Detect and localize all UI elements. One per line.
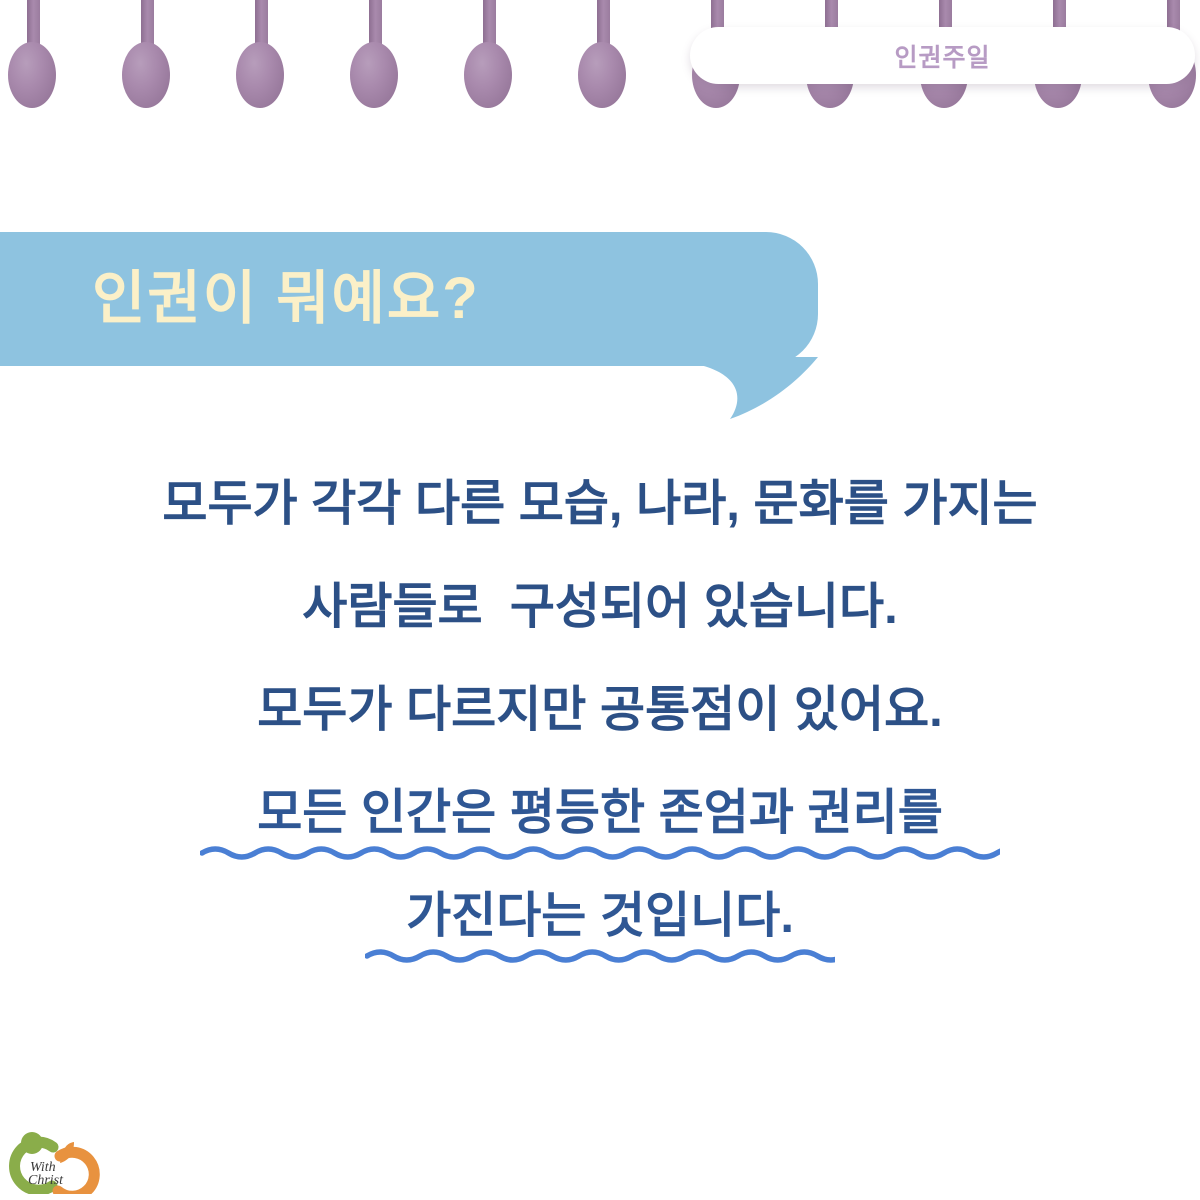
body-text: 모두가 각각 다른 모습, 나라, 문화를 가지는사람들로 구성되어 있습니다.… xyxy=(0,480,1200,995)
binder-ring-bead xyxy=(122,42,170,108)
speech-bubble-body: 인권이 뭐예요? xyxy=(0,232,818,366)
binder-ring xyxy=(350,0,398,108)
wavy-underline xyxy=(200,844,1000,862)
header-badge: 인권주일 xyxy=(690,27,1195,84)
binder-ring xyxy=(464,0,512,108)
binder-ring xyxy=(578,0,626,108)
body-line: 모두가 각각 다른 모습, 나라, 문화를 가지는 xyxy=(0,480,1200,529)
body-line: 사람들로 구성되어 있습니다. xyxy=(0,583,1200,632)
binder-ring-bead xyxy=(464,42,512,108)
speech-bubble-heading: 인권이 뭐예요? xyxy=(92,270,480,328)
binder-ring-bead xyxy=(350,42,398,108)
binder-ring xyxy=(8,0,56,108)
binder-ring-bead xyxy=(578,42,626,108)
binder-ring-bead xyxy=(8,42,56,108)
with-christ-logo: With Christ xyxy=(8,1116,112,1194)
speech-bubble-tail xyxy=(700,357,820,422)
wavy-underline xyxy=(365,947,835,965)
body-line: 모두가 다르지만 공통점이 있어요. xyxy=(0,686,1200,735)
binder-ring-bead xyxy=(236,42,284,108)
binder-ring xyxy=(236,0,284,108)
speech-bubble: 인권이 뭐예요? xyxy=(0,232,820,407)
body-line: 모든 인간은 평등한 존엄과 권리를 xyxy=(0,789,1200,838)
logo-orange-arc xyxy=(58,1152,94,1194)
body-line: 가진다는 것입니다. xyxy=(0,892,1200,941)
logo-text-line2: Christ xyxy=(28,1173,64,1188)
binder-ring xyxy=(122,0,170,108)
header-badge-label: 인권주일 xyxy=(894,38,990,74)
